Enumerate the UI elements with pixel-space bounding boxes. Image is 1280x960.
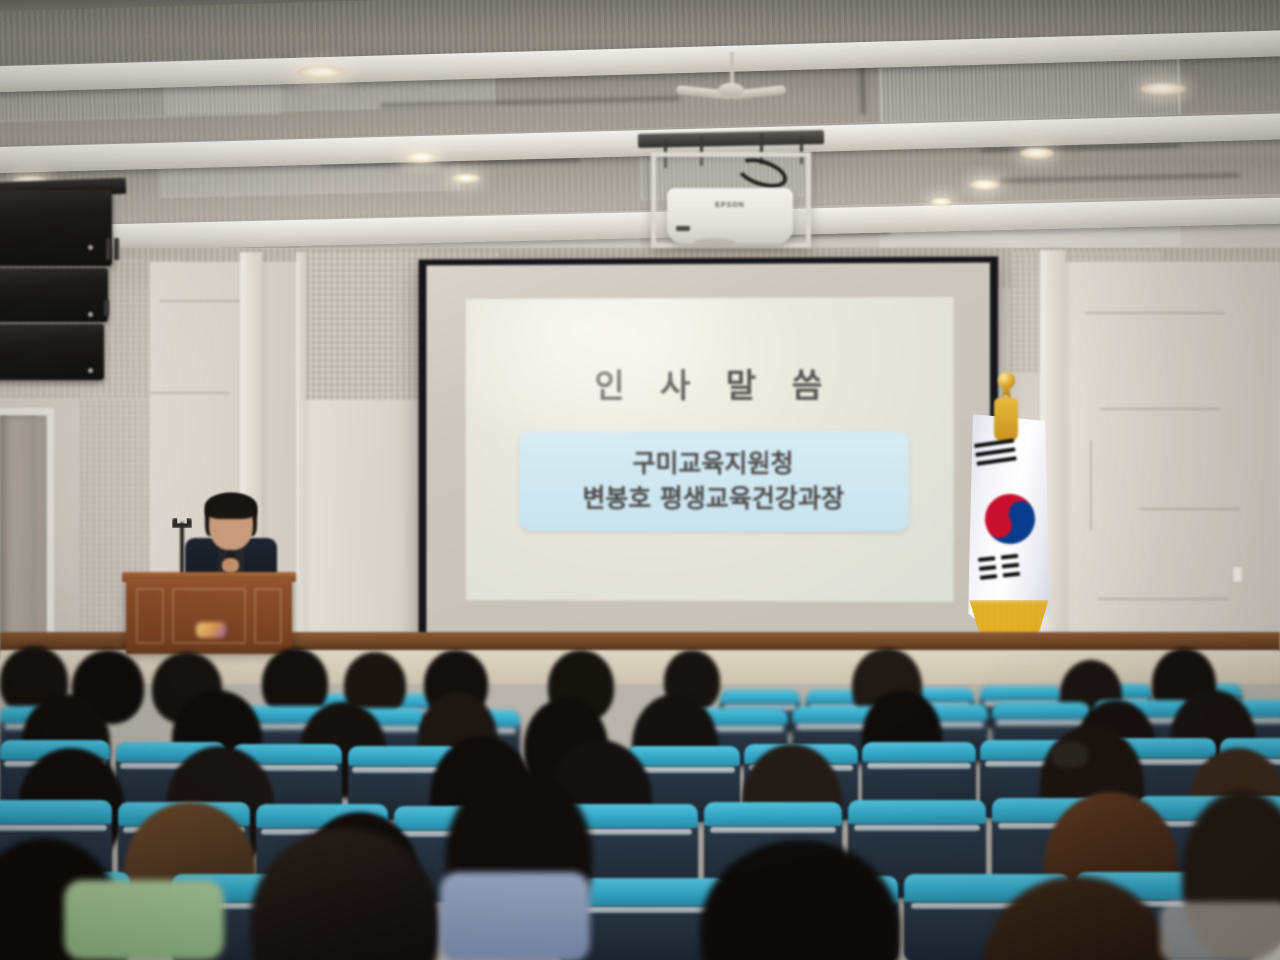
podium-panel <box>254 588 282 644</box>
wall-seam <box>160 300 250 302</box>
light-switch-plate[interactable] <box>1232 566 1243 583</box>
line-array-speaker <box>0 190 112 266</box>
wall-seam <box>1100 408 1220 410</box>
wall-column <box>296 252 306 664</box>
ceiling-downlight <box>970 180 1000 190</box>
projector-brand-label: EPSON <box>667 202 793 209</box>
speaker-vent <box>106 238 111 260</box>
podium <box>126 578 292 654</box>
ceiling-downlight <box>404 152 438 163</box>
ceiling-downlight <box>930 198 952 206</box>
ceiling-downlight <box>1020 148 1054 159</box>
ceiling-fan-stem <box>730 52 734 86</box>
projector-vent-slot <box>676 226 690 231</box>
wall-seam <box>150 392 230 394</box>
ceiling-downlight <box>452 174 480 183</box>
ceiling-downlight <box>296 66 346 79</box>
alcove-frame <box>0 408 54 666</box>
presenter-hand <box>222 558 239 573</box>
projector-body <box>667 188 793 244</box>
slide-org-name: 구미교육지원청 <box>633 448 794 480</box>
audience-clothing <box>1160 902 1280 960</box>
flag-tassel <box>994 398 1018 442</box>
auditorium-photo: EPSON 인 사 말 씀 구미교육지원청 변봉호 평생교육건강과장 <box>0 0 1280 960</box>
ceiling-fan-hub <box>718 83 744 97</box>
slide-speaker-name: 변봉호 평생교육건강과장 <box>583 483 845 515</box>
ceiling <box>0 0 1280 262</box>
presenter-hair-top <box>205 493 257 519</box>
audience-clothing <box>440 872 590 960</box>
speaker-badge <box>88 312 93 317</box>
wall-seam <box>1140 508 1240 510</box>
slide-highlight-box: 구미교육지원청 변봉호 평생교육건강과장 <box>519 431 909 532</box>
audience-hair-detail <box>1052 742 1088 768</box>
slide: 인 사 말 씀 구미교육지원청 변봉호 평생교육건강과장 <box>466 297 954 602</box>
speaker-badge <box>88 245 93 250</box>
wall-seam <box>1085 312 1225 314</box>
ceiling-downlight <box>1140 83 1186 95</box>
speaker-vent <box>104 300 109 316</box>
wall-seam <box>1090 440 1092 530</box>
podium-object <box>196 622 226 638</box>
slide-title: 인 사 말 씀 <box>466 358 954 407</box>
speaker-badge <box>88 368 93 373</box>
audience-clothing <box>64 880 224 960</box>
speaker-vent <box>114 238 119 260</box>
podium-panel <box>136 588 164 644</box>
screen-canvas: 인 사 말 씀 구미교육지원청 변봉호 평생교육건강과장 <box>426 263 990 641</box>
wall-seam <box>1098 598 1228 600</box>
projection-screen: 인 사 말 씀 구미교육지원청 변봉호 평생교육건강과장 <box>418 256 998 647</box>
projector-lens <box>694 238 736 247</box>
